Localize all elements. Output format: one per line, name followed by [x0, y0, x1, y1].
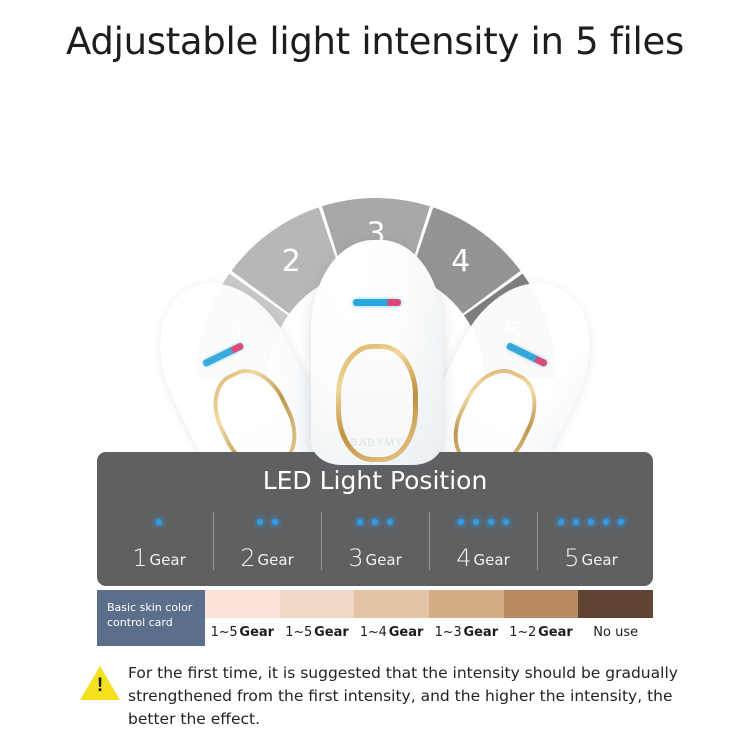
gear-label-3: 3Gear — [348, 544, 402, 572]
skin-cell-2: 1~5Gear — [280, 590, 355, 646]
skin-caption-2: 1~5Gear — [280, 618, 355, 646]
skin-color-control-card: Basic skin color control card 1~5Gear1~5… — [97, 590, 653, 646]
skin-gear-range: 1~4 — [360, 625, 387, 640]
gear-label-4: 4Gear — [456, 544, 510, 572]
led-dot-icon — [488, 519, 494, 525]
led-dot-icon — [156, 519, 162, 525]
skin-caption-4: 1~3Gear — [429, 618, 504, 646]
device-indicator-strip — [353, 299, 401, 306]
skin-caption-3: 1~4Gear — [354, 618, 429, 646]
gear-column-5: 5Gear — [537, 510, 645, 580]
skin-swatch-2 — [280, 590, 355, 618]
gear-number: 5 — [564, 544, 579, 572]
led-dots-1 — [156, 514, 162, 530]
gear-number: 3 — [348, 544, 363, 572]
gear-label-1: 1Gear — [132, 544, 186, 572]
gear-word: Gear — [258, 551, 294, 569]
skin-card-legend-line2: control card — [107, 615, 197, 630]
skin-caption-5: 1~2Gear — [504, 618, 579, 646]
skin-gear-word: Gear — [389, 625, 424, 640]
led-dot-icon — [372, 519, 378, 525]
device-indicator-strip — [506, 342, 549, 368]
skin-card-legend: Basic skin color control card — [97, 590, 205, 646]
led-dot-icon — [573, 519, 579, 525]
gear-word: Gear — [150, 551, 186, 569]
skin-gear-word: Gear — [239, 625, 274, 640]
skin-caption-6: No use — [578, 618, 653, 646]
led-dot-icon — [458, 519, 464, 525]
skin-swatch-6 — [578, 590, 653, 618]
skin-caption-1: 1~5Gear — [205, 618, 280, 646]
warning-note-text: For the first time, it is suggested that… — [128, 662, 680, 731]
gear-word: Gear — [582, 551, 618, 569]
led-dots-3 — [357, 514, 393, 530]
brand-logo: BABYMY — [350, 437, 403, 449]
led-dot-icon — [257, 519, 263, 525]
skin-cell-4: 1~3Gear — [429, 590, 504, 646]
gear-number: 4 — [456, 544, 471, 572]
led-dot-icon — [357, 519, 363, 525]
device-center: BABYMY — [311, 240, 443, 465]
led-dots-4 — [458, 514, 509, 530]
led-dot-icon — [387, 519, 393, 525]
gear-column-4: 4Gear — [429, 510, 537, 580]
skin-gear-word: Gear — [463, 625, 498, 640]
skin-swatch-list: 1~5Gear1~5Gear1~4Gear1~3Gear1~2GearNo us… — [205, 590, 653, 646]
product-photo: BABYMY — [215, 230, 535, 465]
gear-columns: 1Gear2Gear3Gear4Gear5Gear — [105, 510, 645, 580]
gear-column-2: 2Gear — [213, 510, 321, 580]
gear-label-2: 2Gear — [240, 544, 294, 572]
skin-gear-range: 1~5 — [211, 625, 238, 640]
skin-cell-5: 1~2Gear — [504, 590, 579, 646]
skin-gear-range: 1~5 — [285, 625, 312, 640]
led-dot-icon — [473, 519, 479, 525]
skin-swatch-5 — [504, 590, 579, 618]
led-dot-icon — [603, 519, 609, 525]
skin-cell-6: No use — [578, 590, 653, 646]
led-dots-5 — [558, 514, 624, 530]
led-dot-icon — [503, 519, 509, 525]
warning-note: ! For the first time, it is suggested th… — [80, 662, 680, 731]
led-panel-title: LED Light Position — [97, 466, 653, 495]
skin-swatch-4 — [429, 590, 504, 618]
led-dot-icon — [272, 519, 278, 525]
warning-exclamation-glyph: ! — [80, 676, 120, 695]
gear-label-5: 5Gear — [564, 544, 618, 572]
gear-word: Gear — [366, 551, 402, 569]
skin-cell-1: 1~5Gear — [205, 590, 280, 646]
skin-swatch-3 — [354, 590, 429, 618]
led-dot-icon — [588, 519, 594, 525]
gear-number: 2 — [240, 544, 255, 572]
skin-gear-word: No use — [593, 625, 638, 640]
infographic-page: Adjustable light intensity in 5 files 12… — [0, 0, 750, 750]
skin-gear-range: 1~2 — [509, 625, 536, 640]
skin-card-legend-line1: Basic skin color — [107, 600, 197, 615]
gear-word: Gear — [474, 551, 510, 569]
gear-column-3: 3Gear — [321, 510, 429, 580]
skin-swatch-1 — [205, 590, 280, 618]
gear-number: 1 — [132, 544, 147, 572]
warning-triangle-icon: ! — [80, 666, 120, 702]
skin-gear-word: Gear — [314, 625, 349, 640]
led-dot-icon — [558, 519, 564, 525]
gear-column-1: 1Gear — [105, 510, 213, 580]
skin-gear-word: Gear — [538, 625, 573, 640]
led-light-position-panel: LED Light Position 1Gear2Gear3Gear4Gear5… — [97, 452, 653, 586]
led-dots-2 — [257, 514, 278, 530]
skin-gear-range: 1~3 — [435, 625, 462, 640]
led-dot-icon — [618, 519, 624, 525]
page-title: Adjustable light intensity in 5 files — [0, 20, 750, 63]
skin-cell-3: 1~4Gear — [354, 590, 429, 646]
device-indicator-strip — [202, 342, 245, 368]
